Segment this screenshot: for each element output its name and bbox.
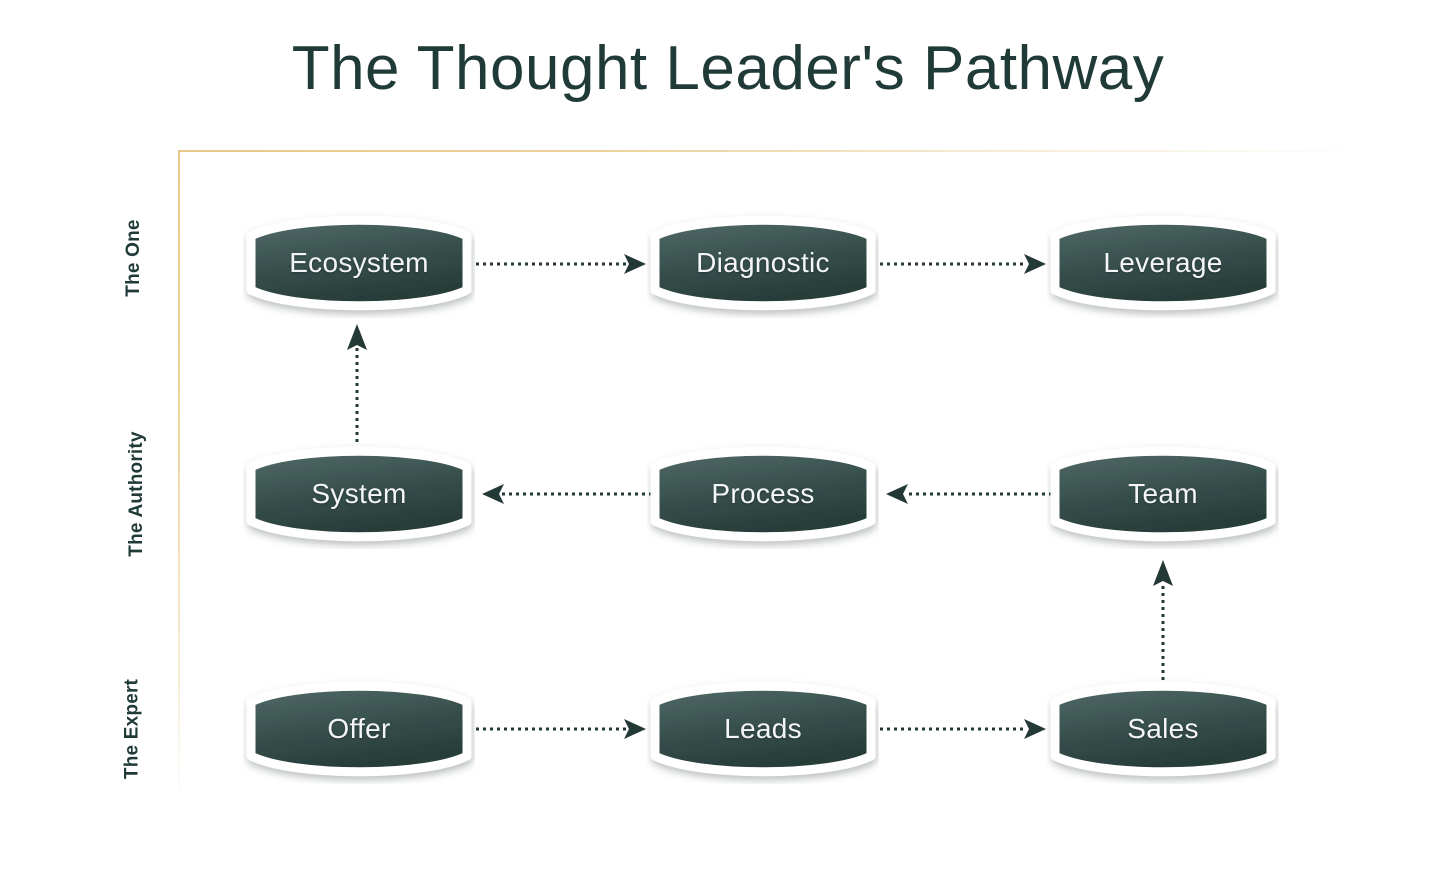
node-sales[interactable]: Sales xyxy=(1047,674,1279,784)
node-label-diagnostic: Diagnostic xyxy=(696,247,830,279)
node-leads[interactable]: Leads xyxy=(647,674,879,784)
row-label-the-authority: The Authority xyxy=(126,399,148,589)
connector-system-to-ecosystem xyxy=(343,324,371,442)
node-offer[interactable]: Offer xyxy=(243,674,475,784)
node-leverage[interactable]: Leverage xyxy=(1047,208,1279,318)
node-team[interactable]: Team xyxy=(1047,439,1279,549)
node-label-leads: Leads xyxy=(724,713,802,745)
node-label-offer: Offer xyxy=(327,713,390,745)
node-label-team: Team xyxy=(1128,478,1198,510)
connector-diagnostic-to-leverage xyxy=(880,250,1046,278)
axis-left-line xyxy=(178,150,180,805)
node-process[interactable]: Process xyxy=(647,439,879,549)
row-label-the-expert: The Expert xyxy=(122,647,144,812)
connector-process-to-system xyxy=(482,480,652,508)
node-label-ecosystem: Ecosystem xyxy=(289,247,429,279)
node-system[interactable]: System xyxy=(243,439,475,549)
node-ecosystem[interactable]: Ecosystem xyxy=(243,208,475,318)
row-label-the-one: The One xyxy=(123,178,145,338)
node-label-process: Process xyxy=(711,478,814,510)
connector-ecosystem-to-diagnostic xyxy=(476,250,646,278)
connector-team-to-process xyxy=(886,480,1052,508)
diagram-canvas: The Thought Leader's Pathway The One The… xyxy=(0,0,1456,885)
connector-offer-to-leads xyxy=(476,715,646,743)
node-label-system: System xyxy=(311,478,406,510)
node-diagnostic[interactable]: Diagnostic xyxy=(647,208,879,318)
connector-leads-to-sales xyxy=(880,715,1046,743)
axis-top-line xyxy=(178,150,1373,152)
node-label-leverage: Leverage xyxy=(1103,247,1222,279)
connector-sales-to-team xyxy=(1149,560,1177,680)
node-label-sales: Sales xyxy=(1127,713,1199,745)
page-title: The Thought Leader's Pathway xyxy=(0,38,1456,100)
